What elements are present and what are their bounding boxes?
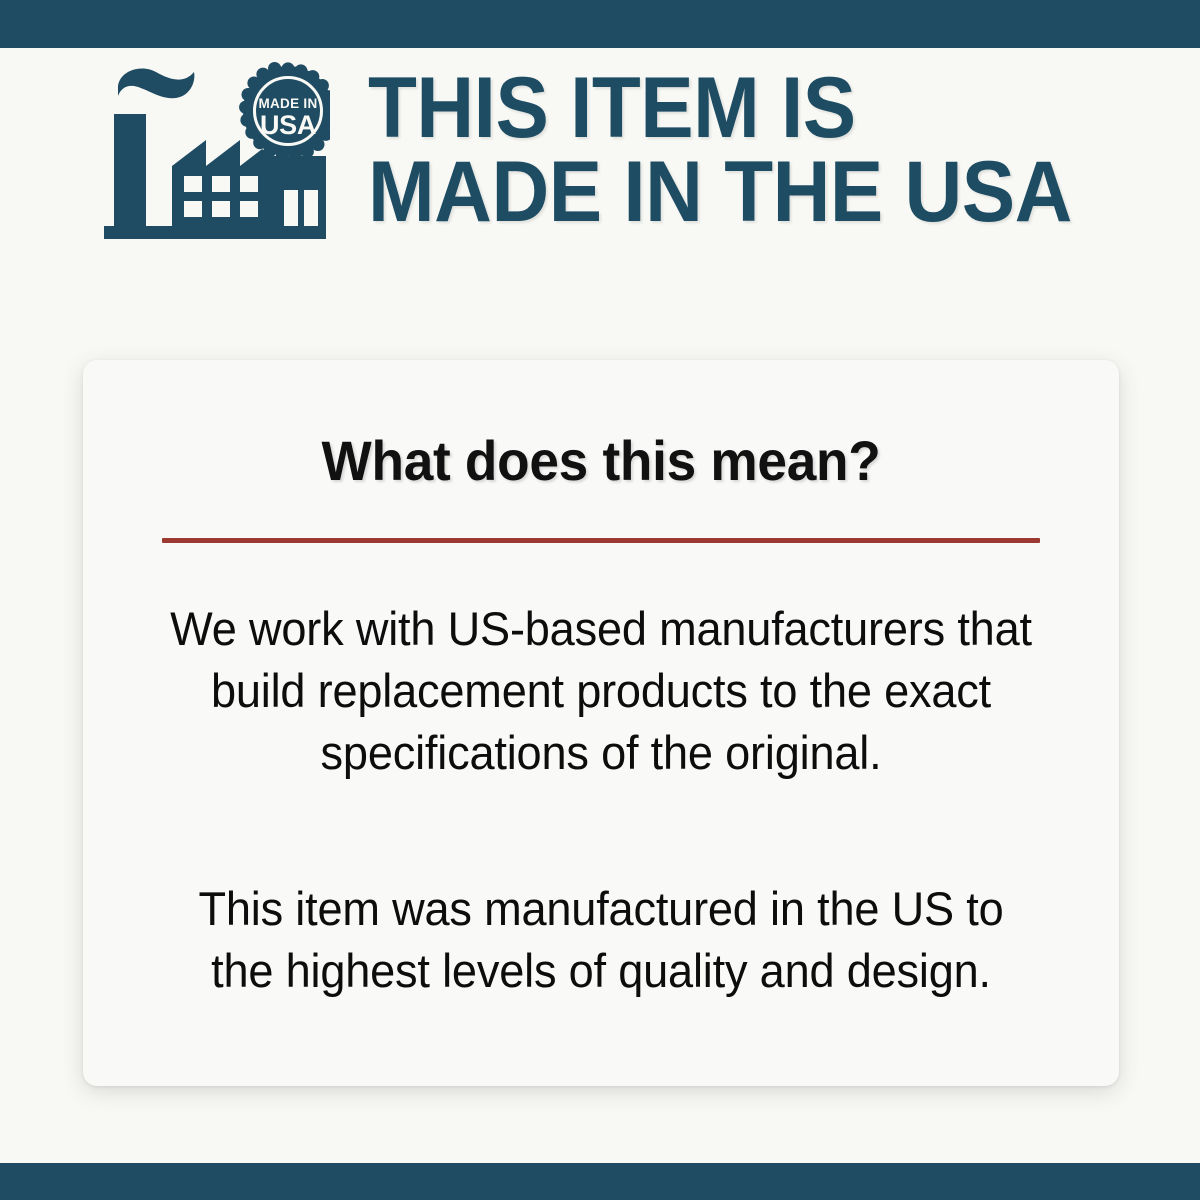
card-heading: What does this mean? [109, 428, 1093, 493]
top-accent-bar [0, 0, 1200, 48]
made-in-usa-badge-icon: MADE IN USA [239, 62, 330, 162]
badge-line2: USA [260, 110, 316, 140]
info-card: What does this mean? We work with US-bas… [83, 360, 1119, 1086]
factory-icon: MADE IN USA [100, 58, 330, 243]
card-paragraph-1: We work with US-based manufacturers that… [161, 598, 1040, 784]
badge-line1: MADE IN [258, 96, 317, 111]
heading-divider [162, 538, 1040, 543]
header: MADE IN USA THIS ITEM IS MADE IN THE USA [0, 48, 1200, 253]
bottom-accent-bar [0, 1163, 1200, 1200]
card-paragraph-2: This item was manufactured in the US to … [161, 878, 1040, 1002]
page-title: THIS ITEM IS MADE IN THE USA [368, 67, 1072, 234]
